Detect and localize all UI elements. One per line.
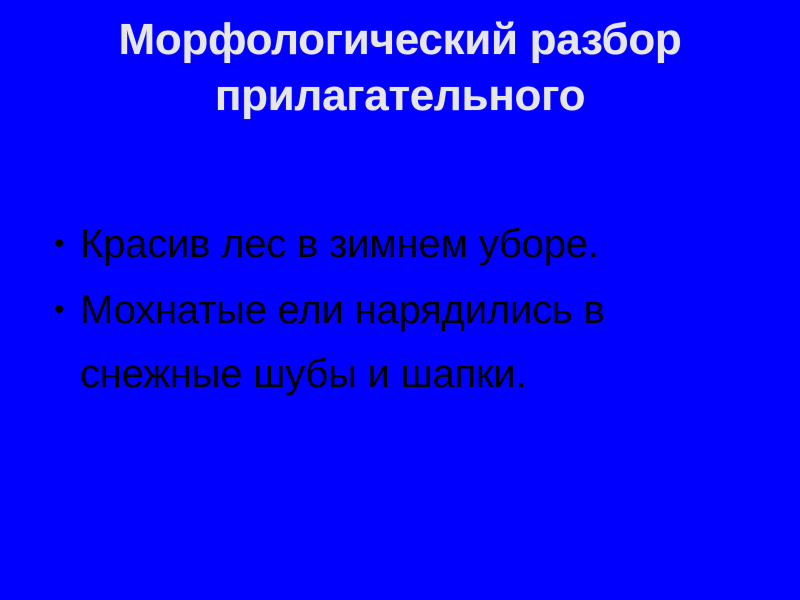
presentation-slide: Морфологический разбор прилагательного •… <box>0 0 800 600</box>
slide-body-content: • Красив лес в зимнем уборе. • Мохнатые … <box>50 212 750 408</box>
bullet-list-item: • Красив лес в зимнем уборе. <box>50 212 750 276</box>
slide-title: Морфологический разбор прилагательного <box>40 12 760 124</box>
bullet-point-icon: • <box>54 278 76 342</box>
bullet-item-text: Мохнатые ели нарядились в снежные шубы и… <box>80 278 750 406</box>
bullet-item-text: Красив лес в зимнем уборе. <box>80 212 750 276</box>
bullet-list-item: • Мохнатые ели нарядились в снежные шубы… <box>50 278 750 406</box>
slide-title-line-2: прилагательного <box>40 68 760 124</box>
slide-title-line-1: Морфологический разбор <box>40 12 760 68</box>
bullet-point-icon: • <box>54 212 76 276</box>
